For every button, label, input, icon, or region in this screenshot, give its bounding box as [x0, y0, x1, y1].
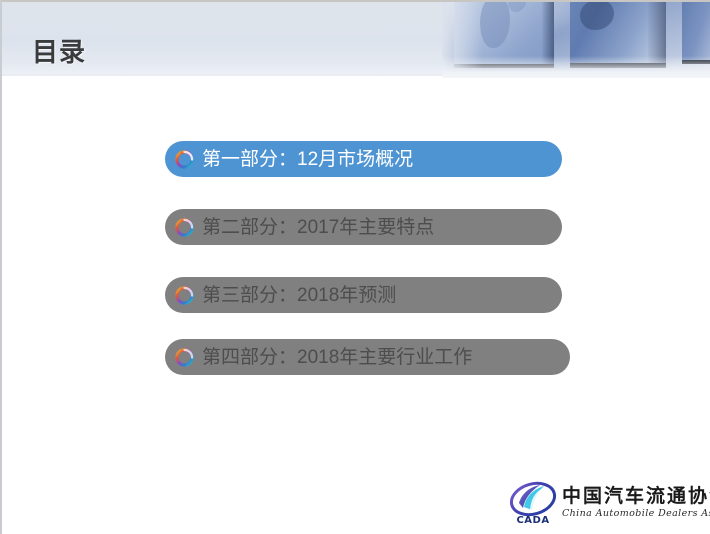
- toc-item-label: 第一部分：12月市场概况: [202, 150, 413, 169]
- slide-header-band: 目录: [2, 0, 710, 76]
- decorative-cube: [682, 2, 710, 64]
- svg-text:CADA: CADA: [516, 515, 549, 526]
- toc-item-part-3[interactable]: 第三部分：2018年预测: [165, 277, 562, 313]
- header-decoration-cubes: [442, 2, 710, 78]
- slide-canvas: 目录: [0, 0, 710, 534]
- cada-logo: CADA 中国汽车流通协会 China Automobile Dealers A…: [510, 476, 708, 530]
- cada-emblem-icon: CADA: [510, 479, 558, 527]
- page-title: 目录: [32, 32, 86, 69]
- toc-item-part-2[interactable]: 第二部分：2017年主要特点: [165, 209, 562, 245]
- table-of-contents: 第一部分：12月市场概况: [165, 141, 595, 407]
- toc-item-part-4[interactable]: 第四部分：2018年主要行业工作: [165, 339, 570, 375]
- rainbow-ring-icon: [174, 285, 195, 306]
- toc-item-part-1[interactable]: 第一部分：12月市场概况: [165, 141, 562, 177]
- toc-item-label: 第三部分：2018年预测: [202, 286, 396, 305]
- rainbow-ring-icon: [174, 347, 195, 368]
- rainbow-ring-icon: [174, 217, 195, 238]
- logo-name-cn: 中国汽车流通协会: [562, 487, 710, 507]
- rainbow-ring-icon: [174, 149, 195, 170]
- toc-item-label: 第二部分：2017年主要特点: [202, 218, 434, 237]
- logo-name-en: China Automobile Dealers Association: [562, 508, 710, 519]
- toc-item-label: 第四部分：2018年主要行业工作: [202, 348, 472, 367]
